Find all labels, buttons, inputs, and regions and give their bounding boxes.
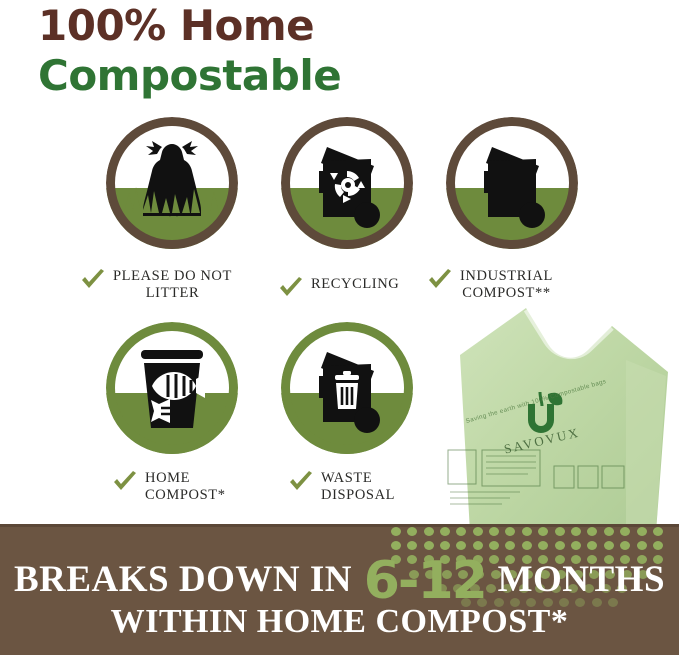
label-recycling: RECYCLING [278, 276, 399, 304]
badge-ring [446, 117, 578, 249]
label-text: WASTE DISPOSAL [321, 470, 395, 504]
banner-line-1: BREAKS DOWN IN 6-12 MONTHS [0, 560, 679, 601]
badge-ring [281, 117, 413, 249]
infographic-canvas: 100% Home Compostable [0, 0, 679, 655]
product-bag-image: SAVOVUX Saving the earth with 100% Compo… [430, 300, 679, 532]
label-waste-disposal: WASTE DISPOSAL [288, 470, 395, 504]
badge-recycling [281, 117, 413, 249]
bag-shape [430, 300, 679, 532]
badge-circle [106, 117, 238, 249]
banner-text: BREAKS DOWN IN 6-12 MONTHS WITHIN HOME C… [0, 560, 679, 641]
badge-circle [281, 322, 413, 454]
banner-duration: 6-12 [362, 551, 488, 611]
label-text: RECYCLING [311, 276, 399, 293]
badge-home-compost [106, 322, 238, 454]
badge-circle [446, 117, 578, 249]
badge-ring [106, 117, 238, 249]
badge-circle [106, 322, 238, 454]
banner-line1-before: BREAKS DOWN IN [14, 559, 352, 600]
badge-waste-disposal [281, 322, 413, 454]
check-icon [427, 269, 453, 296]
page-title: 100% Home Compostable [38, 2, 458, 100]
badge-ring [106, 322, 238, 454]
label-text: HOME COMPOST* [145, 470, 226, 504]
check-icon [112, 471, 138, 498]
badge-ring [281, 322, 413, 454]
check-icon [288, 471, 314, 498]
banner-line-2: WITHIN HOME COMPOST* [0, 603, 679, 641]
headline-line-2: Compostable [38, 52, 458, 100]
label-text: PLEASE DO NOT LITTER [113, 268, 232, 302]
banner-line1-after: MONTHS [498, 559, 665, 600]
check-icon [80, 269, 106, 296]
bottom-banner: BREAKS DOWN IN 6-12 MONTHS WITHIN HOME C… [0, 524, 679, 655]
label-text: INDUSTRIAL COMPOST** [460, 268, 553, 302]
headline-line-1: 100% Home [38, 2, 458, 50]
badge-industrial-compost [446, 117, 578, 249]
check-icon [278, 277, 304, 304]
label-industrial-compost: INDUSTRIAL COMPOST** [427, 268, 553, 302]
label-please-do-not-litter: PLEASE DO NOT LITTER [80, 268, 232, 302]
label-home-compost: HOME COMPOST* [112, 470, 226, 504]
badge-circle [281, 117, 413, 249]
badge-please-do-not-litter [106, 117, 238, 249]
